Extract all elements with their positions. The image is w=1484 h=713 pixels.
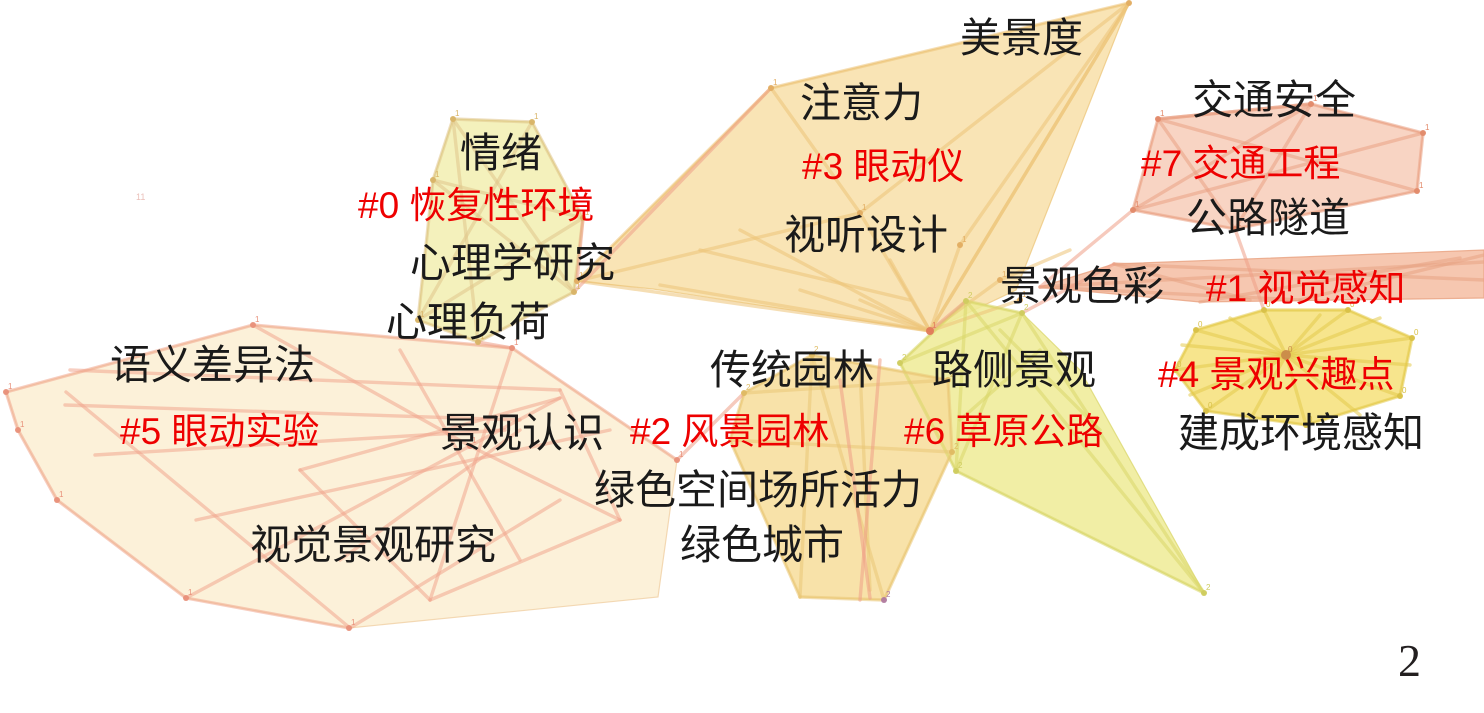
- node-count-label: 1: [20, 420, 25, 429]
- node-count-label: 1: [962, 235, 967, 244]
- cluster-map-canvas: 1111111111111111111111111111112222222222…: [0, 0, 1484, 713]
- node-count-label: 1: [59, 490, 64, 499]
- stray-node-count: 11: [136, 192, 145, 202]
- term-label[interactable]: 路侧景观: [932, 350, 1096, 391]
- term-label[interactable]: 心理负荷: [386, 302, 550, 343]
- term-label[interactable]: 语义差异法: [110, 345, 315, 386]
- term-label[interactable]: 景观色彩: [1000, 266, 1164, 307]
- node-count-label: 1: [1135, 200, 1140, 209]
- node-count-label: 0: [1208, 401, 1213, 410]
- cluster-label-7[interactable]: #7 交通工程: [1141, 145, 1340, 182]
- cluster-label-2[interactable]: #2 风景园林: [630, 413, 829, 450]
- node-count-label: 0: [1414, 328, 1419, 337]
- term-label[interactable]: 景观认识: [440, 413, 604, 454]
- cluster-label-5[interactable]: #5 眼动实验: [120, 413, 319, 450]
- term-label[interactable]: 绿色城市: [680, 525, 844, 566]
- node-count-label: 1: [1425, 123, 1430, 132]
- page-number: 2: [1398, 634, 1421, 687]
- node-count-label: 1: [351, 618, 356, 627]
- node-count-label: 1: [932, 321, 937, 330]
- cluster-label-4[interactable]: #4 景观兴趣点: [1158, 356, 1394, 393]
- term-label[interactable]: 视觉景观研究: [250, 525, 496, 566]
- node-count-label: 2: [1206, 583, 1211, 592]
- cluster-label-1[interactable]: #1 视觉感知: [1206, 270, 1405, 307]
- node-count-label: 1: [8, 382, 13, 391]
- node-count-label: 1: [455, 109, 460, 118]
- node-count-label: 2: [968, 291, 973, 300]
- node-count-label: 0: [1198, 320, 1203, 329]
- term-label[interactable]: 情绪: [460, 133, 542, 174]
- node-count-label: 1: [255, 315, 260, 324]
- node-count-label: 2: [902, 353, 907, 362]
- cluster-label-3[interactable]: #3 眼动仪: [802, 148, 964, 185]
- term-label[interactable]: 交通安全: [1192, 80, 1356, 121]
- node-count-label: 1: [1131, 0, 1136, 2]
- node-count-label: 1: [435, 170, 440, 179]
- node-count-label: 1: [1160, 109, 1165, 118]
- node-count-label: 0: [1402, 386, 1407, 395]
- cluster-label-0[interactable]: #0 恢复性环境: [358, 187, 594, 224]
- node-count-label: 1: [1419, 181, 1424, 190]
- term-label[interactable]: 公路隧道: [1186, 198, 1350, 239]
- node-count-label: 2: [958, 461, 963, 470]
- term-label[interactable]: 视听设计: [784, 215, 948, 256]
- node-count-label: 1: [534, 112, 539, 121]
- term-label[interactable]: 传统园林: [710, 350, 874, 391]
- node-count-label: 0: [1288, 345, 1293, 354]
- term-label[interactable]: 绿色空间场所活力: [594, 470, 922, 511]
- term-label[interactable]: 注意力: [800, 83, 923, 124]
- cluster-label-6[interactable]: #6 草原公路: [904, 413, 1103, 450]
- term-label[interactable]: 美景度: [960, 18, 1083, 59]
- node-count-label: 1: [188, 588, 193, 597]
- term-label[interactable]: 心理学研究: [410, 243, 615, 284]
- term-label[interactable]: 建成环境感知: [1178, 413, 1424, 454]
- node-count-label: 1: [773, 78, 778, 87]
- node-count-label: 1: [862, 203, 867, 212]
- node-count-label: 2: [886, 590, 891, 599]
